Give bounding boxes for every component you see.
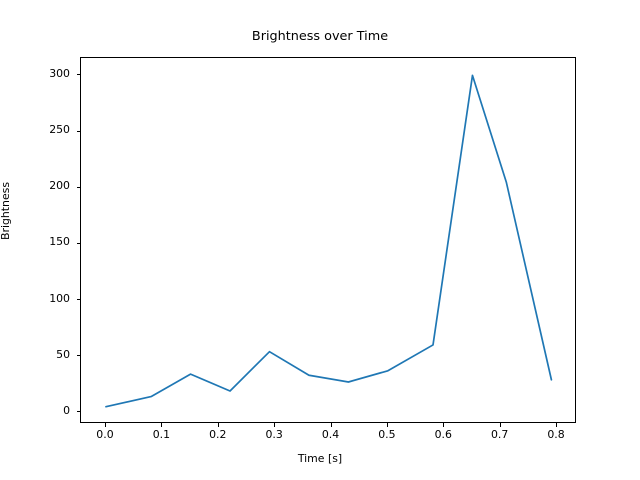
- y-tick-label: 50: [24, 348, 70, 361]
- y-axis-label: Brightness: [0, 182, 12, 240]
- x-tick-label: 0.5: [357, 428, 417, 441]
- brightness-line: [106, 75, 551, 406]
- y-tick-label: 200: [24, 179, 70, 192]
- x-tick-label: 0.2: [188, 428, 248, 441]
- x-tick-label: 0.1: [131, 428, 191, 441]
- y-tick-label: 300: [24, 67, 70, 80]
- x-axis-label: Time [s]: [0, 452, 640, 465]
- matplotlib-figure: Brightness over Time Brightness Time [s]…: [0, 0, 640, 480]
- x-tick-label: 0.4: [301, 428, 361, 441]
- x-tick-label: 0.6: [413, 428, 473, 441]
- chart-title: Brightness over Time: [0, 29, 640, 44]
- y-tick-label: 250: [24, 123, 70, 136]
- x-tick-label: 0.8: [526, 428, 586, 441]
- y-tick-label: 100: [24, 292, 70, 305]
- x-tick-label: 0.7: [470, 428, 530, 441]
- plot-axes: [80, 57, 576, 423]
- line-series-svg: [81, 58, 577, 424]
- x-tick-label: 0.0: [75, 428, 135, 441]
- x-tick-label: 0.3: [244, 428, 304, 441]
- y-tick-label: 0: [24, 404, 70, 417]
- y-tick-label: 150: [24, 235, 70, 248]
